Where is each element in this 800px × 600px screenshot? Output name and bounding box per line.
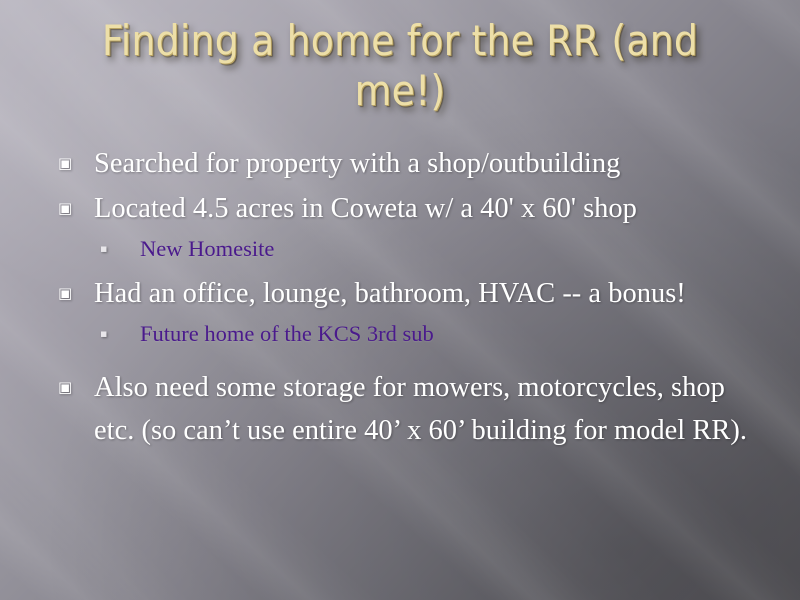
- small-square-bullet-icon: ▪: [52, 317, 140, 351]
- bullet-text: Searched for property with a shop/outbui…: [94, 142, 764, 185]
- bullet-item-level2: ▪ Future home of the KCS 3rd sub: [52, 317, 764, 351]
- bullet-text: Also need some storage for mowers, motor…: [94, 366, 764, 452]
- bullet-item-level1: ▣ Had an office, lounge, bathroom, HVAC …: [52, 272, 764, 315]
- slide-content: Finding a home for the RR (and me!) ▣ Se…: [0, 0, 800, 600]
- bullet-item-level2: ▪ New Homesite: [52, 232, 764, 266]
- bullet-text: Had an office, lounge, bathroom, HVAC --…: [94, 272, 764, 315]
- bullet-text: Located 4.5 acres in Coweta w/ a 40' x 6…: [94, 187, 764, 230]
- square-bullet-icon: ▣: [52, 187, 94, 230]
- bullet-item-level1: ▣ Also need some storage for mowers, mot…: [52, 366, 764, 452]
- spacer: [52, 357, 764, 366]
- square-bullet-icon: ▣: [52, 142, 94, 185]
- subbullet-text: Future home of the KCS 3rd sub: [140, 317, 764, 351]
- subbullet-text: New Homesite: [140, 232, 764, 266]
- presentation-slide: Finding a home for the RR (and me!) ▣ Se…: [0, 0, 800, 600]
- slide-title: Finding a home for the RR (and me!): [40, 16, 760, 116]
- bullet-item-level1: ▣ Located 4.5 acres in Coweta w/ a 40' x…: [52, 187, 764, 230]
- bullet-item-level1: ▣ Searched for property with a shop/outb…: [52, 142, 764, 185]
- square-bullet-icon: ▣: [52, 366, 94, 409]
- slide-body-bullet-list: ▣ Searched for property with a shop/outb…: [52, 142, 764, 454]
- small-square-bullet-icon: ▪: [52, 232, 140, 266]
- square-bullet-icon: ▣: [52, 272, 94, 315]
